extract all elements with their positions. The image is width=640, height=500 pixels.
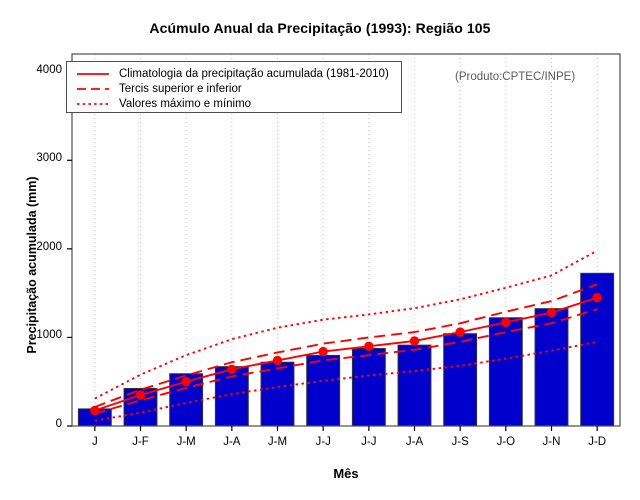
chart-legend: Climatologia da precipitação acumulada (… bbox=[66, 61, 402, 113]
y-tick-label: 1000 bbox=[16, 329, 62, 341]
legend-label-climatologia: Climatologia da precipitação acumulada (… bbox=[119, 67, 389, 81]
x-tick-label: J-D bbox=[570, 436, 624, 448]
chart-figure: Acúmulo Anual da Precipitação (1993): Re… bbox=[0, 0, 640, 500]
y-tick-label: 0 bbox=[16, 418, 62, 430]
bar bbox=[307, 355, 340, 426]
legend-key-dotted-line-icon bbox=[76, 97, 110, 111]
bar bbox=[398, 345, 431, 426]
legend-label-valores: Valores máximo e mínimo bbox=[119, 97, 251, 111]
series-marker bbox=[547, 308, 555, 316]
legend-item-climatologia: Climatologia da precipitação acumulada (… bbox=[67, 66, 389, 82]
series-marker bbox=[136, 391, 144, 399]
series-marker bbox=[593, 293, 601, 301]
y-tick-label: 3000 bbox=[16, 152, 62, 164]
series-marker bbox=[502, 318, 510, 326]
y-tick-label: 4000 bbox=[16, 64, 62, 76]
series-marker bbox=[365, 342, 373, 350]
bar bbox=[535, 309, 568, 426]
product-attribution: (Produto:CPTEC/INPE) bbox=[455, 71, 575, 83]
series-marker bbox=[91, 406, 99, 414]
bar bbox=[352, 349, 385, 427]
legend-key-dashed-line-icon bbox=[76, 82, 110, 96]
legend-key-solid-line-icon bbox=[76, 67, 110, 81]
series-marker bbox=[456, 328, 464, 336]
series-marker bbox=[182, 378, 190, 386]
series-marker bbox=[319, 347, 327, 355]
legend-item-tercis: Tercis superior e inferior bbox=[67, 81, 242, 97]
series-marker bbox=[410, 337, 418, 345]
y-tick-label: 2000 bbox=[16, 241, 62, 253]
bar bbox=[261, 362, 294, 426]
series-marker bbox=[273, 356, 281, 364]
series-marker bbox=[228, 365, 236, 373]
legend-label-tercis: Tercis superior e inferior bbox=[119, 82, 242, 96]
legend-item-valores: Valores máximo e mínimo bbox=[67, 96, 251, 112]
bar bbox=[444, 334, 477, 426]
